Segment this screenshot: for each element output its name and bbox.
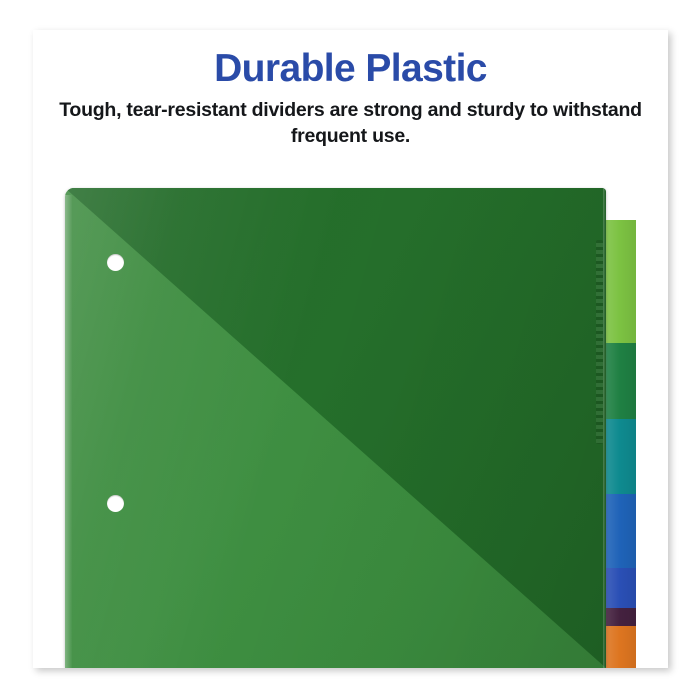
- pocket-left-edge-highlight: [65, 195, 72, 668]
- product-image-canvas: Durable Plastic Tough, tear-resistant di…: [0, 0, 700, 700]
- reinforced-perforation-strip: [596, 240, 603, 444]
- punch-hole-bottom: [107, 495, 124, 512]
- divider-right-seam: [603, 188, 606, 668]
- punch-hole-top: [107, 254, 124, 271]
- plastic-divider-sheet: [65, 188, 606, 668]
- product-card: Durable Plastic Tough, tear-resistant di…: [33, 30, 668, 668]
- product-photo: [33, 30, 668, 668]
